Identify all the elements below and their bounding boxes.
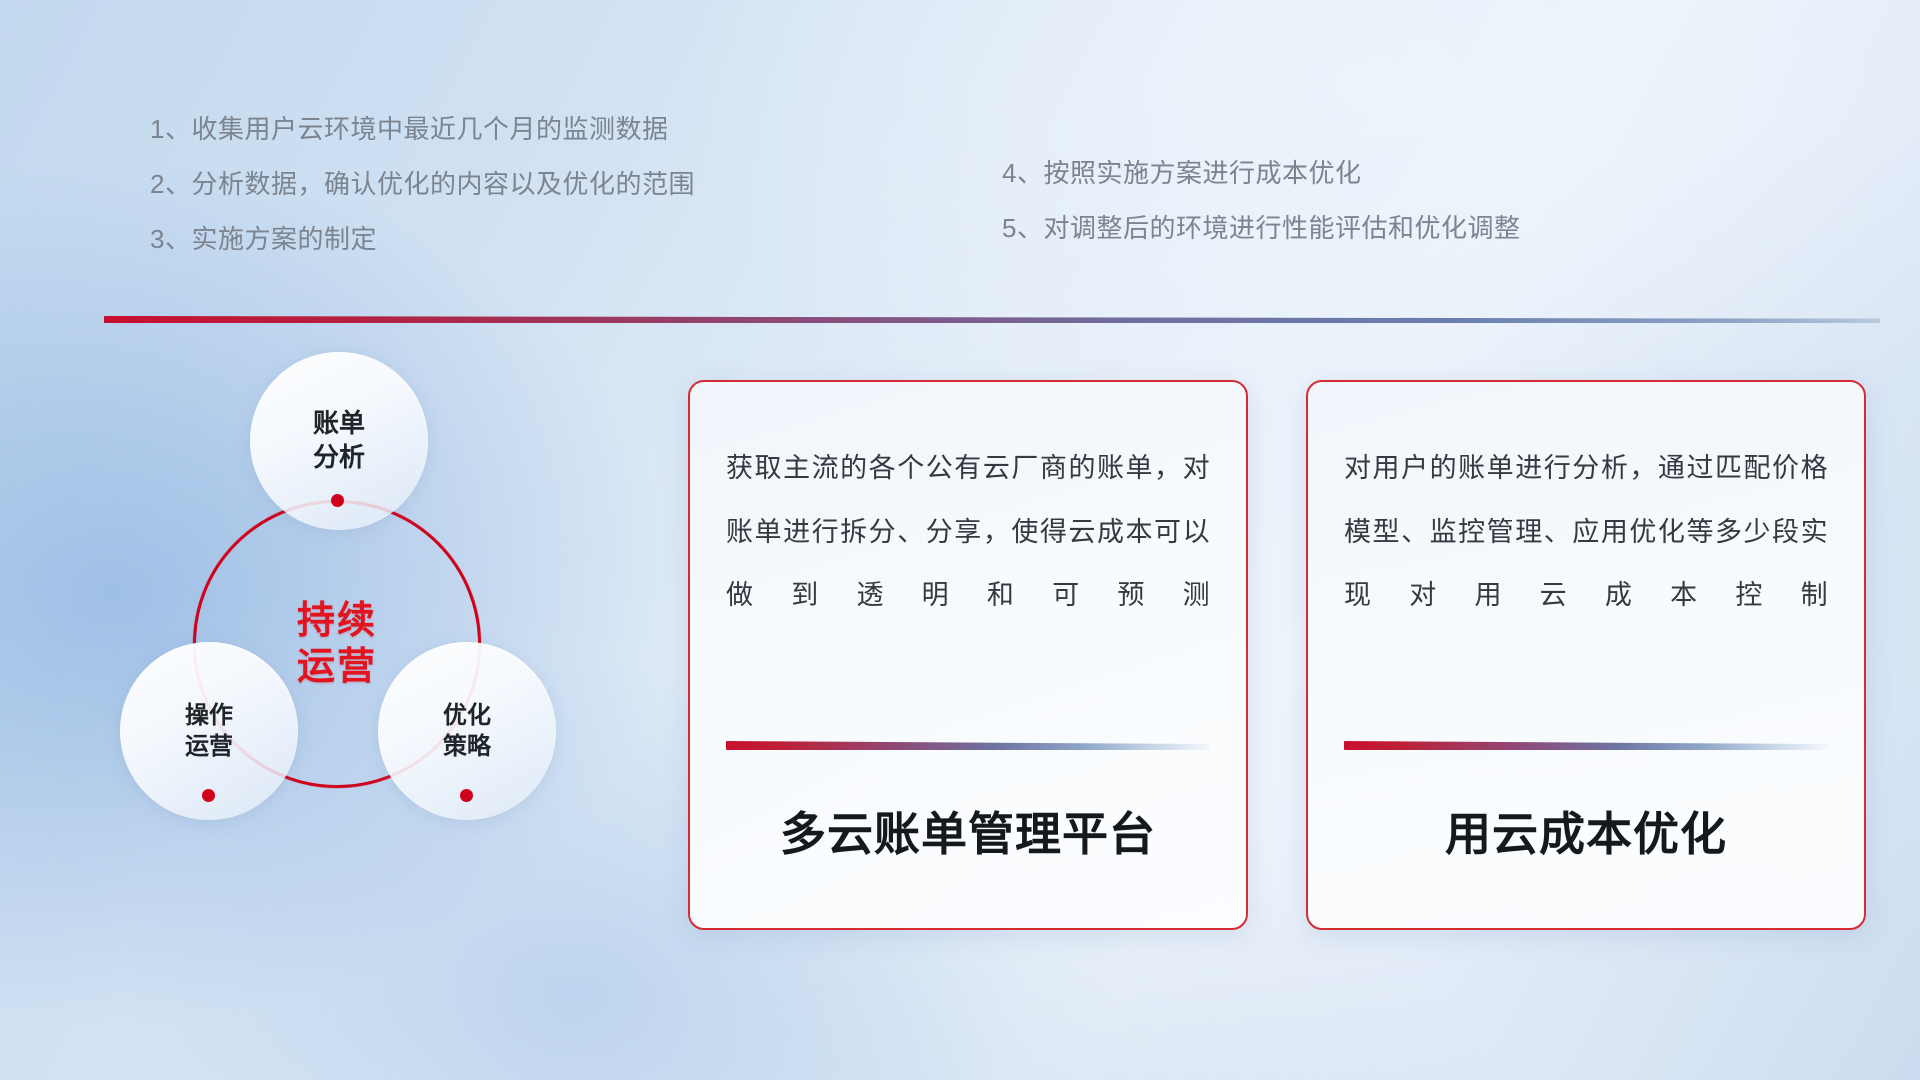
info-card-cloud-cost-optimization[interactable]: 对用户的账单进行分析，通过匹配价格模型、监控管理、应用优化等多少段实现对用云成本… <box>1306 380 1866 930</box>
center-label-line-2: 运营 <box>297 644 377 690</box>
connector-dot-top <box>331 494 344 507</box>
step-item-3: 3、实施方案的制定 <box>150 226 695 252</box>
step-item-5: 5、对调整后的环境进行性能评估和优化调整 <box>1002 215 1520 241</box>
card-body-text: 获取主流的各个公有云厂商的账单，对账单进行拆分、分享，使得云成本可以做到透明和可… <box>726 437 1210 628</box>
center-label-line-1: 持续 <box>297 598 377 644</box>
node-label-line-1: 账单 <box>313 407 365 441</box>
node-label-line-1: 操作 <box>185 700 233 731</box>
step-item-4: 4、按照实施方案进行成本优化 <box>1002 160 1520 186</box>
node-label-line-2: 分析 <box>313 441 365 475</box>
card-accent-rule <box>1344 741 1828 750</box>
step-item-2: 2、分析数据，确认优化的内容以及优化的范围 <box>150 171 695 197</box>
step-item-1: 1、收集用户云环境中最近几个月的监测数据 <box>150 116 695 142</box>
node-label-line-2: 运营 <box>185 731 233 762</box>
section-divider <box>104 316 1880 323</box>
card-body-text: 对用户的账单进行分析，通过匹配价格模型、监控管理、应用优化等多少段实现对用云成本… <box>1344 437 1828 628</box>
steps-left-column: 1、收集用户云环境中最近几个月的监测数据 2、分析数据，确认优化的内容以及优化的… <box>150 116 695 252</box>
connector-dot-right <box>460 789 473 802</box>
steps-right-column: 4、按照实施方案进行成本优化 5、对调整后的环境进行性能评估和优化调整 <box>1002 160 1520 241</box>
card-accent-rule <box>726 741 1210 750</box>
info-card-multicloud-billing[interactable]: 获取主流的各个公有云厂商的账单，对账单进行拆分、分享，使得云成本可以做到透明和可… <box>688 380 1248 930</box>
card-title: 多云账单管理平台 <box>726 750 1210 928</box>
slide-canvas: 1、收集用户云环境中最近几个月的监测数据 2、分析数据，确认优化的内容以及优化的… <box>0 0 1920 1080</box>
node-label-line-1: 优化 <box>443 700 491 731</box>
card-title: 用云成本优化 <box>1344 750 1828 928</box>
connector-dot-left <box>202 789 215 802</box>
node-label-line-2: 策略 <box>443 731 491 762</box>
continuous-operation-diagram: 持续 运营 账单 分析 操作 运营 优化 策略 <box>100 352 630 912</box>
